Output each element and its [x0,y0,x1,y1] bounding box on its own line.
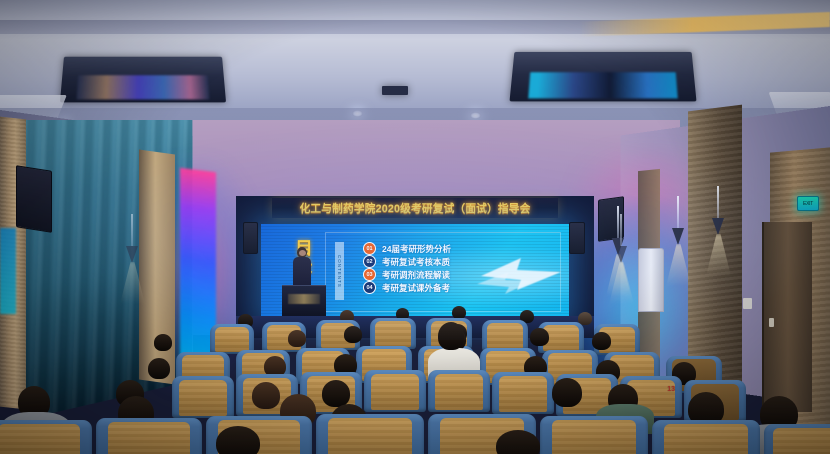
presenter [293,247,311,289]
list-item: 04 考研复试课外备考 [363,281,451,294]
audience-head [530,328,549,346]
list-item-label: 考研调剂流程解读 [382,269,450,281]
audience-head [252,382,280,409]
seat[interactable] [316,414,424,454]
list-item-label: 考研复试课外备考 [382,282,450,294]
seat[interactable] [492,372,554,414]
audience-seating: 13 [0,300,830,454]
stage-speaker-left [243,222,258,254]
seat[interactable] [428,370,490,412]
list-item-number: 03 [363,268,376,281]
seat[interactable] [364,370,426,412]
seat[interactable] [652,420,760,454]
event-banner-text: 化工与制药学院2020级考研复试（面试）指导会 [300,200,531,216]
event-banner: 化工与制药学院2020级考研复试（面试）指导会 [272,198,558,218]
list-item: 02 考研复试考核本质 [363,255,451,268]
list-item-number: 01 [363,242,376,255]
ceiling-vent-right [509,52,696,101]
audience-head [148,358,170,379]
list-item-label: 24届考研形势分析 [382,243,451,255]
seat[interactable] [370,318,416,349]
audience-head [344,326,362,343]
seat[interactable] [96,418,202,454]
audience-head [592,332,611,350]
seat[interactable] [482,320,528,351]
exit-sign-icon: EXIT [797,196,819,211]
seat[interactable] [764,424,830,454]
seat[interactable] [172,376,234,418]
stage-speaker-right [569,222,585,254]
audience-head [438,322,464,350]
lecture-hall-photo: EXIT 化工与制药学院2020级考研复试（面试）指导会 目 录 CONTENT… [0,0,830,454]
list-item: 01 24届考研形势分析 [363,242,451,255]
audience-head [552,378,582,407]
list-item-label: 考研复试考核本质 [382,256,450,268]
ceiling-vent-left [60,57,226,103]
wall-speaker-left [16,165,52,233]
seat-number: 13 [667,386,675,393]
audience-head [288,330,306,347]
seat[interactable] [540,416,648,454]
audience-head [154,334,172,351]
ceiling-small-fixture [382,86,408,95]
audience-head [322,380,350,407]
audience-head [496,430,540,454]
seat[interactable] [0,420,92,454]
audience-head [216,426,260,454]
slide-vertical-label: CONTENTS [335,242,344,300]
slide-contents-list: 01 24届考研形势分析 02 考研复试考核本质 03 考研调剂流程解读 04 … [363,242,451,294]
list-item: 03 考研调剂流程解读 [363,268,451,281]
list-item-number: 04 [363,281,376,294]
list-item-number: 02 [363,255,376,268]
